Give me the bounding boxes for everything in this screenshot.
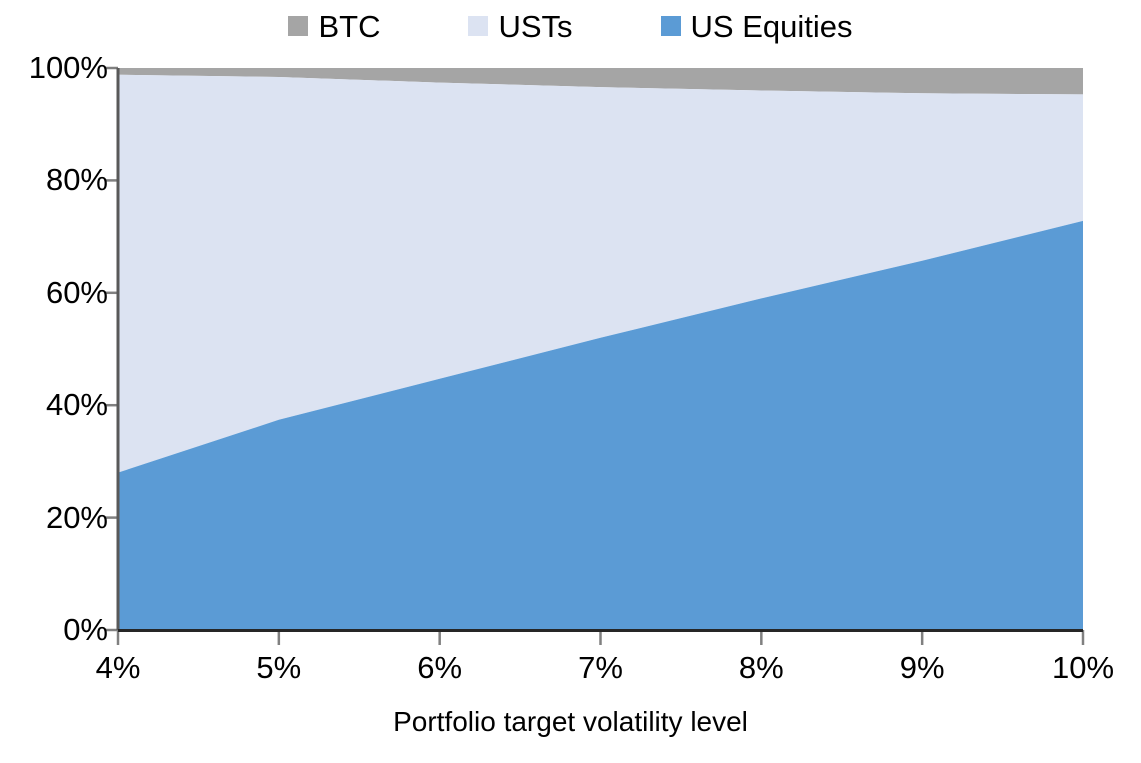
- x-axis-tick-label: 6%: [380, 652, 500, 683]
- x-axis-tick-label: 9%: [862, 652, 982, 683]
- x-axis-tick-label: 4%: [58, 652, 178, 683]
- x-axis-tick-label: 7%: [541, 652, 661, 683]
- x-axis-tick-label: 5%: [219, 652, 339, 683]
- plot-area: 100%80%60%40%20%0% 4%5%6%7%8%9%10%: [0, 0, 1141, 763]
- x-axis-tick-label: 8%: [701, 652, 821, 683]
- stacked-area-chart: BTC USTs US Equities 100%80%60%40: [0, 0, 1141, 763]
- x-axis-tick-label: 10%: [1023, 652, 1141, 683]
- x-axis-labels: 4%5%6%7%8%9%10%: [0, 0, 1141, 763]
- x-axis-title: Portfolio target volatility level: [0, 706, 1141, 738]
